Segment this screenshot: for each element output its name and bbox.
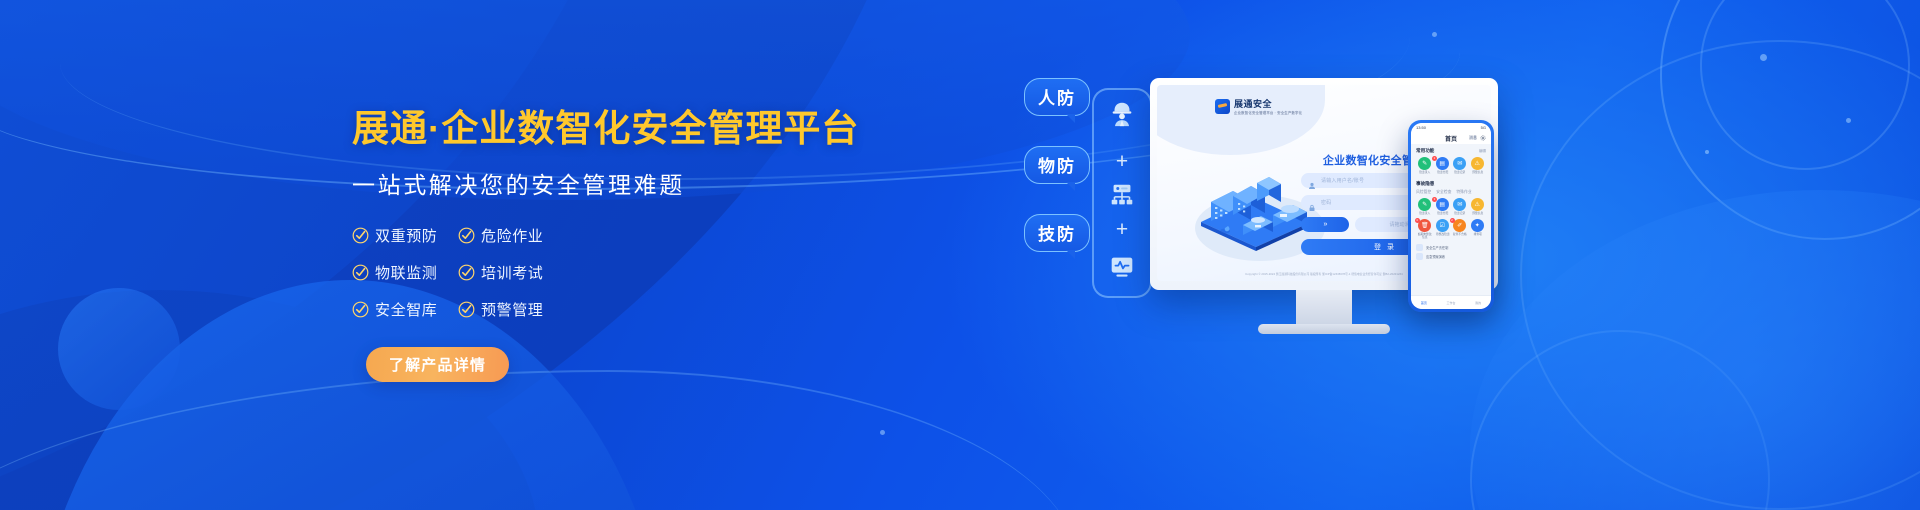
assign-icon: ▤ [1436,198,1449,211]
task-icon: ✦ [1471,219,1484,232]
feature-label: 物联监测 [375,262,437,283]
background-circle-1 [58,288,180,410]
phone-list: 安全生产责任制 应急预案演练 [1411,242,1491,260]
todo-icon: ☑ [1436,219,1449,232]
notification-badge: 2 [1432,156,1437,161]
phone-status-bar: 13:50 5G [1411,123,1491,132]
app-label: 预警信息 [1469,171,1485,174]
notification-badge: 4 [1415,218,1420,223]
monitor-base [1258,324,1390,334]
feature-label: 危险作业 [481,225,543,246]
tab-home[interactable]: 首页 [1421,301,1427,305]
app-tile[interactable]: ☑ 待整改隐患 [1434,219,1452,240]
check-circle-icon [458,301,475,318]
app-label: 隐患分配 [1434,212,1450,215]
notification-badge: 2 [1450,218,1455,223]
slider-handle-icon[interactable]: » [1301,217,1349,232]
app-tile[interactable]: 3 ▤ 隐患分配 [1434,198,1452,215]
phone-nav-title: 首页 [1445,134,1457,143]
section-title: 事故隐患 [1416,181,1434,187]
tab-special-work[interactable]: 特殊作业 [1456,190,1471,195]
feature-label: 双重预防 [375,225,437,246]
overdue-icon: 🗑 [1418,219,1431,232]
plus-connector-1: + [1110,150,1134,174]
device-showcase: + + 人防 物防 技防 [1030,0,1650,510]
phone-tab-bar: 首页 工作台 我的 [1411,295,1491,309]
section-header: 事故隐患 [1416,181,1486,187]
app-label: 隐患分配 [1434,171,1450,174]
worker-helmet-icon [1102,96,1142,130]
logo-text: 展通安全企业数智化安全管理平台 · 安全生产数字化 [1234,97,1302,115]
app-label: 排查项 [1469,233,1485,236]
section-tabs: 风险管控 安全检查 特殊作业 [1416,190,1486,195]
monitor-neck [1296,290,1352,324]
app-tile[interactable]: 4 🗑 超期未整改信息 [1416,219,1434,240]
section-title: 常用功能 [1416,148,1434,154]
app-tile[interactable]: 2 ▤ 隐患分配 [1434,157,1452,174]
tab-label: 首页 [1421,301,1427,305]
gear-icon[interactable] [1480,135,1486,141]
network-device-icon [1102,178,1142,212]
feature-item-1: 危险作业 [458,225,564,246]
feature-item-4: 安全智库 [352,299,458,320]
badge-physical-defense[interactable]: 物防 [1024,146,1090,184]
feature-item-0: 双重预防 [352,225,458,246]
app-label: 超期未整改信息 [1417,233,1433,239]
learn-more-button[interactable]: 了解产品详情 [366,347,509,382]
screen-decoration-blob [1157,85,1325,155]
feature-label: 安全智库 [375,299,437,320]
username-placeholder: 请输入用户名/账号 [1321,177,1364,184]
phone-icon-grid-0: ✎ 隐患录入 2 ▤ 隐患分配 ✉ 隐患记录 ⚠ [1416,157,1486,177]
app-label: 预警信息 [1469,212,1485,215]
platform-logo: 展通安全企业数智化安全管理平台 · 安全生产数字化 [1215,97,1302,115]
banner-root: 展通·企业数智化安全管理平台 一站式解决您的安全管理难题 双重预防 危险作业 物 [0,0,1920,510]
password-placeholder: 密码 [1321,199,1331,206]
feature-label: 培训考试 [481,262,543,283]
section-header: 常用功能 编辑 [1416,148,1486,154]
logo-mark-icon [1215,99,1230,114]
alert-icon: ⚠ [1471,157,1484,170]
phone-screen: 13:50 5G 首页 消息 常用功能 编辑 [1411,123,1491,309]
banner-copy: 展通·企业数智化安全管理平台 一站式解决您的安全管理难题 双重预防 危险作业 物 [352,108,912,382]
background-circle-2 [1660,0,1920,240]
app-label: 复查不合格 [1452,233,1468,236]
check-circle-icon [352,301,369,318]
app-label: 隐患记录 [1452,171,1468,174]
user-icon [1308,177,1316,185]
record-icon: ✉ [1453,198,1466,211]
app-tile[interactable]: ⚠ 预警信息 [1469,157,1487,174]
tab-label: 我的 [1475,301,1481,305]
app-tile[interactable]: 2 ✐ 复查不合格 [1451,219,1469,240]
feature-item-5: 预警管理 [458,299,564,320]
banner-subheadline: 一站式解决您的安全管理难题 [352,166,912,200]
app-tile[interactable]: ✎ 隐患录入 [1416,198,1434,215]
status-indicators: 5G [1481,125,1486,130]
lock-icon [1308,199,1316,207]
feature-item-2: 物联监测 [352,262,458,283]
badge-technical-defense[interactable]: 技防 [1024,214,1090,252]
background-dot [1760,54,1767,61]
section-more-link[interactable]: 编辑 [1479,149,1486,154]
monitor-pulse-icon [1102,250,1142,284]
banner-headline: 展通·企业数智化安全管理平台 [352,108,912,149]
list-item-title: 应急预案演练 [1426,254,1445,259]
app-tile[interactable]: ✉ 隐患记录 [1451,198,1469,215]
list-item[interactable]: 应急预案演练 [1416,253,1486,260]
list-item-icon [1416,244,1423,251]
app-label: 待整改隐患 [1434,233,1450,236]
tab-profile[interactable]: 我的 [1475,301,1481,305]
list-item-title: 安全生产责任制 [1426,245,1448,250]
app-label: 隐患记录 [1452,212,1468,215]
background-circle-3 [1700,0,1910,170]
plus-connector-2: + [1110,218,1134,242]
record-icon: ✉ [1453,157,1466,170]
tab-label: 工作台 [1446,301,1455,305]
check-circle-icon [352,264,369,281]
badge-human-defense[interactable]: 人防 [1024,78,1090,116]
mobile-phone-mockup: 13:50 5G 首页 消息 常用功能 编辑 [1408,120,1494,312]
app-label: 隐患录入 [1417,171,1433,174]
app-tile[interactable]: ✦ 排查项 [1469,219,1487,240]
app-tile[interactable]: ⚠ 预警信息 [1469,198,1487,215]
app-tile[interactable]: ✎ 隐患录入 [1416,157,1434,174]
logo-subtext: 企业数智化安全管理平台 · 安全生产数字化 [1234,110,1302,115]
feature-label: 预警管理 [481,299,543,320]
app-label: 隐患录入 [1417,212,1433,215]
app-tile[interactable]: ✉ 隐患记录 [1451,157,1469,174]
phone-nav-badge[interactable]: 消息 [1469,135,1477,141]
check-circle-icon [352,227,369,244]
list-item[interactable]: 安全生产责任制 [1416,244,1486,251]
check-circle-icon [458,264,475,281]
background-dot [1705,150,1709,154]
check-circle-icon [458,227,475,244]
tab-safety-check[interactable]: 安全检查 [1436,190,1451,195]
edit-icon: ✎ [1418,157,1431,170]
recheck-icon: ✐ [1453,219,1466,232]
tab-workbench[interactable]: 工作台 [1446,301,1455,305]
status-time: 13:50 [1416,125,1426,130]
feature-list: 双重预防 危险作业 物联监测 培训考试 [352,225,652,336]
background-dot [880,430,885,435]
phone-section-0: 常用功能 编辑 ✎ 隐患录入 2 ▤ 隐患分配 [1411,144,1491,177]
edit-icon: ✎ [1418,198,1431,211]
feature-item-3: 培训考试 [458,262,564,283]
phone-nav-bar: 首页 消息 [1411,132,1491,144]
phone-icon-grid-1: ✎ 隐患录入 3 ▤ 隐患分配 ✉ 隐患记录 ⚠ [1416,198,1486,242]
alert-icon: ⚠ [1471,198,1484,211]
background-dot [1846,118,1851,123]
phone-section-1: 事故隐患 风险管控 安全检查 特殊作业 ✎ 隐患录入 3 [1411,177,1491,242]
background-wave-bottom [0,370,1080,510]
list-item-icon [1416,253,1423,260]
tab-risk-control[interactable]: 风险管控 [1416,190,1431,195]
assign-icon: ▤ [1436,157,1449,170]
